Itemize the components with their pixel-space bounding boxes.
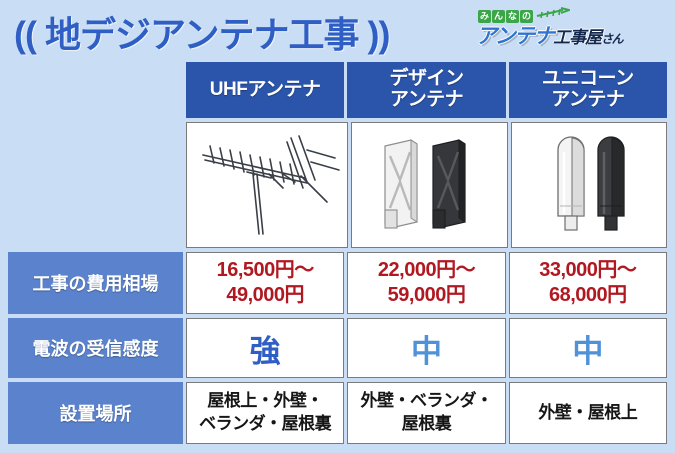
- cell-image-unicorn: [511, 122, 668, 248]
- column-header-uhf: UHFアンテナ: [186, 62, 344, 118]
- unicorn-pole-antenna-illustration: [512, 123, 667, 247]
- logo-kanji: 工事屋: [553, 28, 601, 47]
- table-row-signal: 電波の受信感度 強 中 中: [8, 318, 667, 378]
- cell-cost-unicorn: 33,000円〜 68,000円: [509, 252, 667, 314]
- column-header-unicorn-line1: ユニコーン: [542, 68, 634, 89]
- signal-uhf-value: 強: [250, 326, 281, 371]
- cost-design-line2: 59,000円: [388, 284, 466, 306]
- column-header-design: デザイン アンテナ: [347, 62, 505, 118]
- place-unicorn-line1: 外壁・屋根上: [538, 403, 637, 422]
- image-row-label-blank: [8, 122, 183, 248]
- cell-place-uhf: 屋根上・外壁・ ベランダ・屋根裏: [186, 382, 344, 444]
- column-header-unicorn: ユニコーン アンテナ: [509, 62, 667, 118]
- cell-place-unicorn: 外壁・屋根上: [509, 382, 667, 444]
- cell-signal-uhf: 強: [186, 318, 344, 378]
- cell-signal-unicorn: 中: [509, 318, 667, 378]
- table-row-place: 設置場所 屋根上・外壁・ ベランダ・屋根裏 外壁・ベランダ・ 屋根裏 外壁・屋根…: [8, 382, 667, 444]
- site-logo[interactable]: み ん な の アンテナ工事屋さん: [476, 7, 666, 53]
- row-label-signal: 電波の受信感度: [8, 318, 183, 378]
- cell-place-design: 外壁・ベランダ・ 屋根裏: [347, 382, 505, 444]
- table-header-row: UHFアンテナ デザイン アンテナ ユニコーン アンテナ: [8, 62, 667, 118]
- cost-uhf-line2: 49,000円: [226, 284, 304, 306]
- cell-cost-uhf: 16,500円〜 49,000円: [186, 252, 344, 314]
- column-header-design-line2: アンテナ: [390, 89, 463, 110]
- signal-unicorn-value: 中: [572, 326, 603, 371]
- cost-uhf-line1: 16,500円〜: [217, 259, 314, 281]
- place-uhf-line1: 屋根上・外壁・: [207, 391, 323, 410]
- cell-image-design: [351, 122, 508, 248]
- cost-unicorn-line2: 68,000円: [549, 284, 627, 306]
- cell-cost-design: 22,000円〜 59,000円: [347, 252, 505, 314]
- place-uhf-line2: ベランダ・屋根裏: [199, 414, 331, 433]
- place-design-line2: 屋根裏: [402, 414, 452, 433]
- antenna-comparison-table: UHFアンテナ デザイン アンテナ ユニコーン アンテナ: [8, 62, 667, 442]
- table-image-row: [8, 122, 667, 248]
- uhf-yagi-antenna-illustration: [187, 123, 347, 247]
- cost-design-line1: 22,000円〜: [378, 259, 475, 281]
- page-title: (( 地デジアンテナ工事 )): [14, 6, 390, 58]
- column-header-uhf-line1: UHFアンテナ: [210, 79, 321, 100]
- design-flat-antenna-illustration: [352, 123, 507, 247]
- logo-wordmark: アンテナ工事屋さん: [476, 20, 622, 50]
- place-design-line1: 外壁・ベランダ・: [360, 391, 492, 410]
- cell-signal-design: 中: [347, 318, 505, 378]
- logo-kana: アンテナ: [476, 25, 553, 48]
- table-row-cost: 工事の費用相場 16,500円〜 49,000円 22,000円〜 59,000…: [8, 252, 667, 314]
- column-header-design-line1: デザイン: [389, 68, 463, 89]
- corner-cell: [8, 62, 183, 118]
- cost-unicorn-line1: 33,000円〜: [539, 259, 636, 281]
- signal-design-value: 中: [411, 326, 442, 371]
- cell-image-uhf: [186, 122, 348, 248]
- column-header-unicorn-line2: アンテナ: [551, 89, 624, 110]
- page-header: (( 地デジアンテナ工事 )) み ん な の アンテナ工事屋さん: [0, 0, 675, 60]
- row-label-cost: 工事の費用相場: [8, 252, 183, 314]
- logo-suffix: さん: [601, 32, 622, 46]
- row-label-place: 設置場所: [8, 382, 183, 444]
